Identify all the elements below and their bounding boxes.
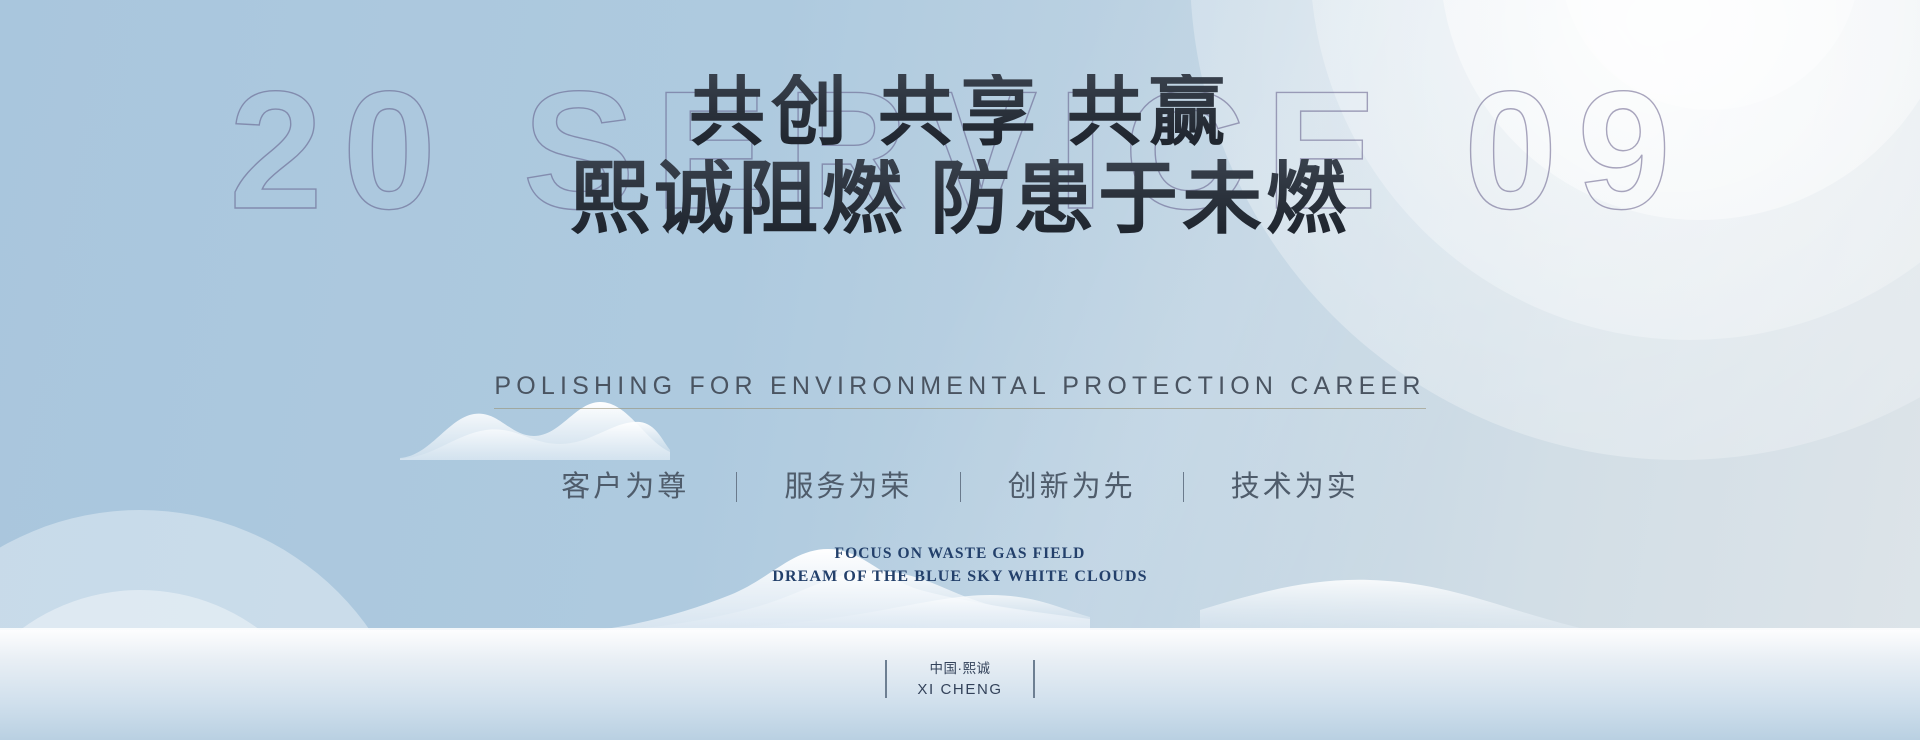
value-separator-1 (736, 472, 737, 502)
promo-banner: 20 SERVICE 09 共创 共享 共赢 熙诚阻燃 防患于未燃 POLISH… (0, 0, 1920, 740)
value-separator-3 (1183, 472, 1184, 502)
english-tagline-wrapper: POLISHING FOR ENVIRONMENTAL PROTECTION C… (0, 372, 1920, 409)
value-phrase-1: 客户为尊 (561, 463, 689, 505)
logo-chinese: 中国·熙诚 (917, 659, 1002, 679)
value-phrase-4: 技术为实 (1231, 463, 1359, 505)
value-phrase-row: 客户为尊 服务为荣 创新为先 技术为实 (0, 463, 1920, 505)
logo-rule-left (885, 660, 887, 698)
headline-line-2: 熙诚阻燃 防患于未燃 (0, 159, 1920, 242)
brand-logo-block: 中国·熙诚 XI CHENG (0, 659, 1920, 700)
headline-block: 共创 共享 共赢 熙诚阻燃 防患于未燃 (0, 74, 1920, 242)
value-phrase-3: 创新为先 (1008, 463, 1136, 505)
value-phrase-2: 服务为荣 (784, 463, 912, 505)
serif-slogan-block: FOCUS ON WASTE GAS FIELD DREAM OF THE BL… (0, 543, 1920, 589)
logo-english: XI CHENG (917, 679, 1002, 700)
serif-slogan-line-2: DREAM OF THE BLUE SKY WHITE CLOUDS (0, 565, 1920, 588)
cloud-mountain-left (400, 400, 670, 460)
value-separator-2 (960, 472, 961, 502)
logo-rule-right (1033, 660, 1035, 698)
headline-line-1: 共创 共享 共赢 (0, 74, 1920, 153)
logo-text: 中国·熙诚 XI CHENG (917, 659, 1002, 700)
english-tagline: POLISHING FOR ENVIRONMENTAL PROTECTION C… (494, 372, 1425, 409)
serif-slogan-line-1: FOCUS ON WASTE GAS FIELD (0, 543, 1920, 565)
